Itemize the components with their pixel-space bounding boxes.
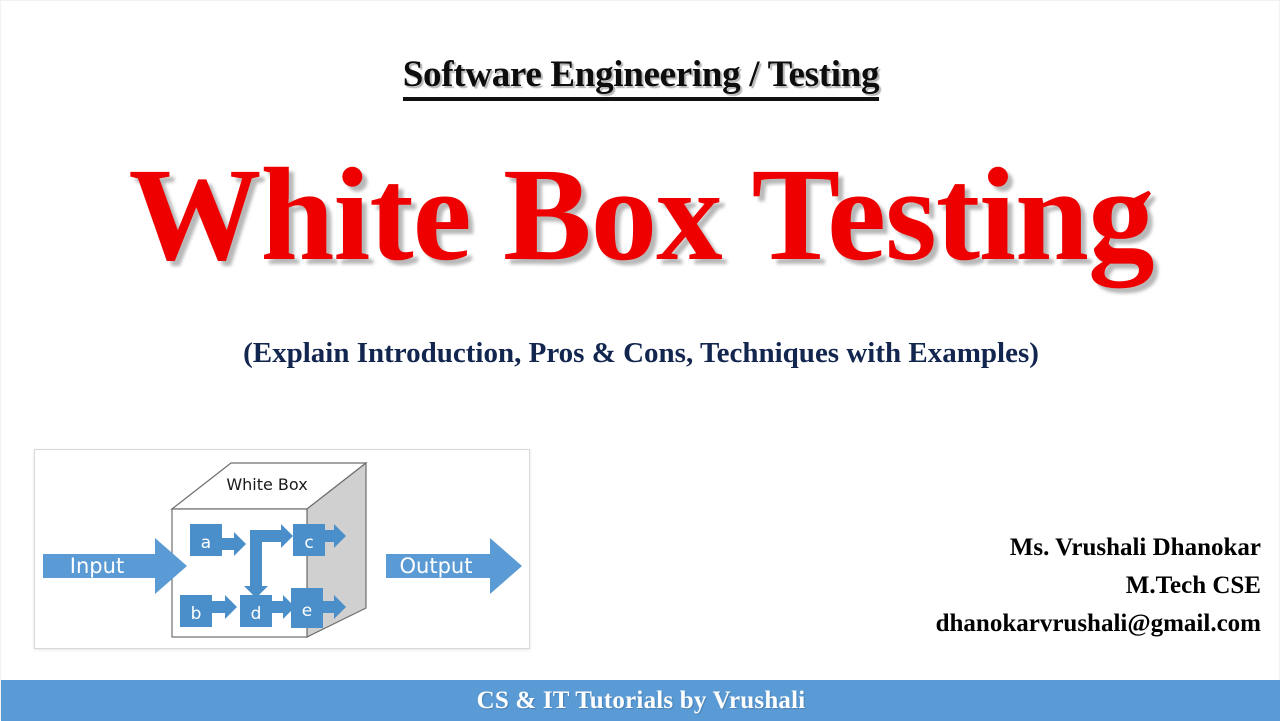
node-a-label: a bbox=[201, 533, 211, 553]
presenter-email: dhanokarvrushali@gmail.com bbox=[721, 605, 1261, 643]
footer-text: CS & IT Tutorials by Vrushali bbox=[477, 687, 806, 715]
output-arrow: Output bbox=[386, 538, 522, 594]
subheading: (Explain Introduction, Pros & Cons, Tech… bbox=[1, 334, 1280, 372]
node-a: a bbox=[190, 524, 222, 556]
page-title-text: Software Engineering / Testing bbox=[403, 54, 880, 101]
footer-bar: CS & IT Tutorials by Vrushali bbox=[1, 680, 1280, 721]
node-e-label: e bbox=[302, 601, 312, 621]
input-label: Input bbox=[70, 554, 124, 578]
presenter-block: Ms. Vrushali Dhanokar M.Tech CSE dhanoka… bbox=[721, 529, 1261, 643]
node-b-label: b bbox=[191, 604, 202, 624]
node-c-label: c bbox=[304, 533, 313, 553]
input-arrow: Input bbox=[43, 538, 187, 594]
main-heading: White Box Testing bbox=[1, 139, 1280, 289]
white-box-diagram: White Box Input Output a bbox=[34, 449, 530, 649]
page-title: Software Engineering / Testing bbox=[1, 53, 1280, 97]
node-d-label: d bbox=[251, 604, 262, 624]
presenter-name: Ms. Vrushali Dhanokar bbox=[721, 529, 1261, 567]
output-label: Output bbox=[400, 554, 473, 578]
slide-canvas: Software Engineering / Testing White Box… bbox=[0, 0, 1280, 720]
presenter-qualification: M.Tech CSE bbox=[721, 567, 1261, 605]
cube-label: White Box bbox=[226, 475, 307, 494]
